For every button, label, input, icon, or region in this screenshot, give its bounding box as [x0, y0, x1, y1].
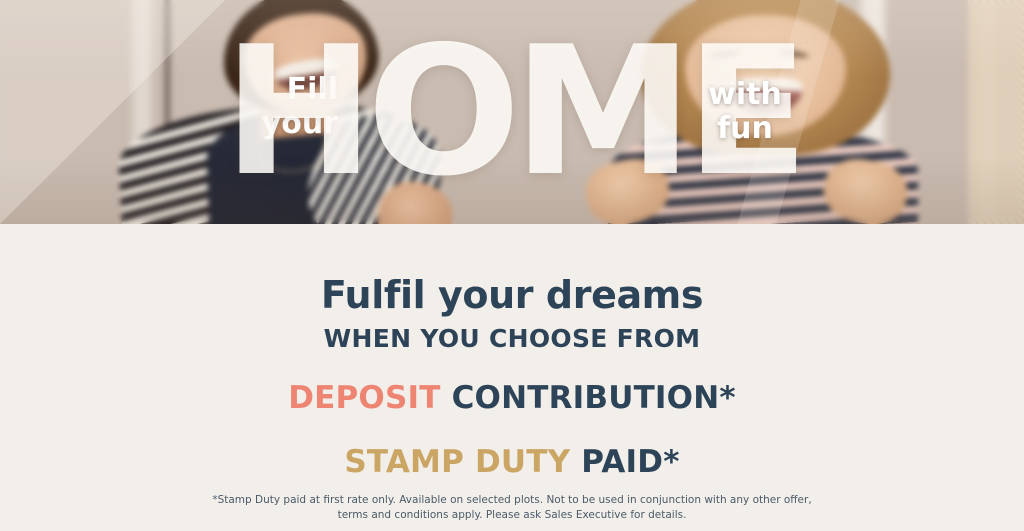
offer-stamp-duty-paid: STAMP DUTY PAID*: [0, 447, 1024, 478]
offer-deposit-contribution: DEPOSIT CONTRIBUTION*: [0, 383, 1024, 414]
promotional-banner-page: Fill your HOME with fun Fulfil your drea…: [0, 0, 1024, 531]
page-subtitle: WHEN YOU CHOOSE FROM: [0, 326, 1024, 351]
offer-content-section: Fulfil your dreams WHEN YOU CHOOSE FROM …: [0, 224, 1024, 531]
wall-texture: [968, 0, 1024, 224]
girl-figure: [625, 0, 901, 224]
offer-stamp-duty-highlight: STAMP DUTY: [344, 444, 570, 480]
hero-photo: [0, 0, 1024, 224]
offer-deposit-highlight: DEPOSIT: [288, 380, 440, 416]
hero-banner: Fill your HOME with fun: [0, 0, 1024, 224]
disclaimer-line-1: *Stamp Duty paid at first rate only. Ava…: [212, 493, 812, 508]
disclaimer-text: *Stamp Duty paid at first rate only. Ava…: [212, 493, 812, 523]
disclaimer-line-2: terms and conditions apply. Please ask S…: [212, 508, 812, 523]
woman-figure: [113, 0, 482, 224]
page-title: Fulfil your dreams: [0, 224, 1024, 314]
offer-deposit-rest: CONTRIBUTION*: [441, 380, 736, 416]
offer-stamp-duty-rest: PAID*: [570, 444, 679, 480]
